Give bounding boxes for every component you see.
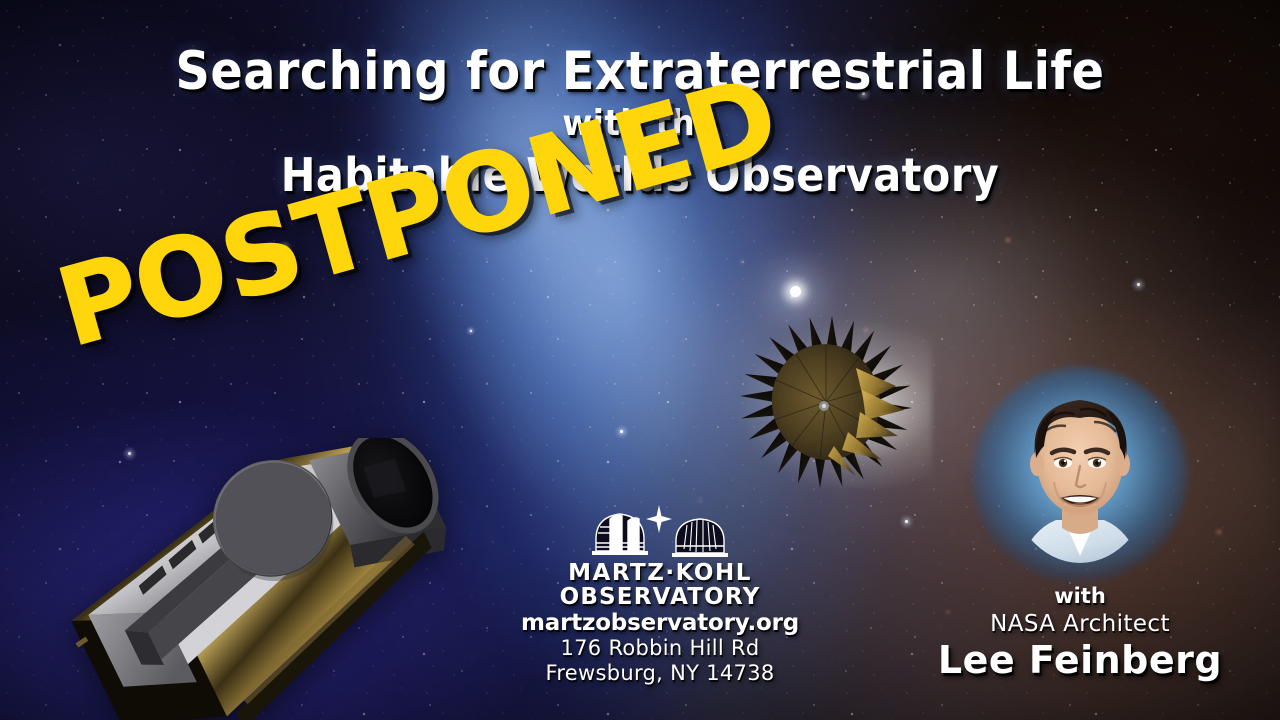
observatory-logo-block: MARTZ·KOHL OBSERVATORY martzobservatory.… (500, 505, 820, 686)
speaker-portrait (980, 370, 1180, 580)
event-poster: Searching for Extraterrestrial Life with… (0, 0, 1280, 720)
observatory-dome-icon (580, 505, 740, 561)
space-telescope-icon (30, 438, 490, 720)
logo-website[interactable]: martzobservatory.org (500, 611, 820, 637)
speaker-block: with NASA Architect Lee Feinberg (930, 370, 1230, 682)
portrait-photo (980, 370, 1180, 580)
starshade-icon (738, 310, 918, 490)
logo-address-line-1: 176 Robbin Hill Rd (500, 636, 820, 661)
logo-address-line-2: Frewsburg, NY 14738 (500, 661, 820, 686)
speaker-with-label: with (930, 584, 1230, 608)
speaker-name: Lee Feinberg (930, 638, 1230, 682)
speaker-role: NASA Architect (930, 611, 1230, 637)
logo-name-line-2: OBSERVATORY (500, 585, 820, 609)
starburst-icon (646, 505, 672, 533)
logo-name-line-1: MARTZ·KOHL (500, 562, 820, 585)
